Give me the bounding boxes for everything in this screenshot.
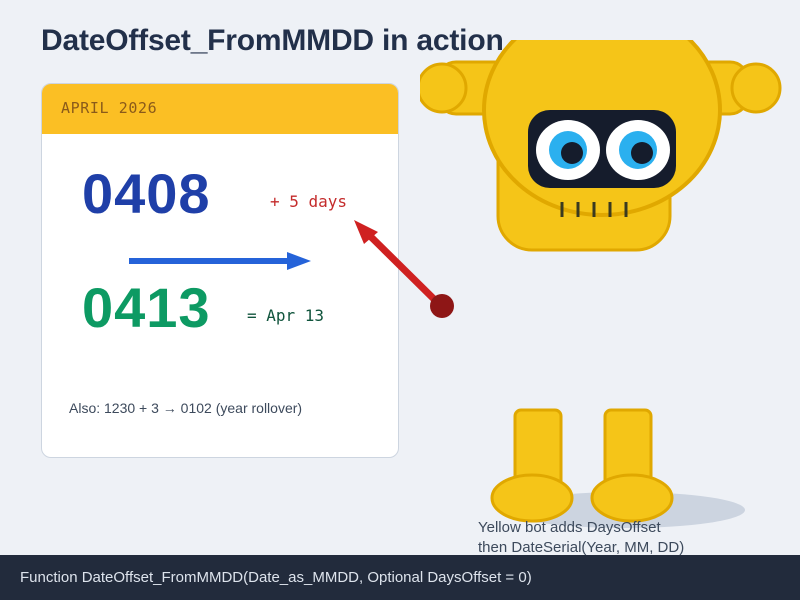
hand-left [420,64,466,112]
footer-bar: Function DateOffset_FromMMDD(Date_as_MMD… [0,555,800,600]
function-signature: Function DateOffset_FromMMDD(Date_as_MMD… [20,569,532,586]
calendar-month-label: APRIL 2026 [61,99,157,117]
robot-foot-left [492,475,572,521]
bot-caption-line-1: Yellow bot adds DaysOffset [478,518,778,538]
calendar-card: APRIL 2026 0408 + 5 days 0413 = Apr 13 A… [41,83,399,458]
yellow-robot-illustration [420,40,800,530]
transform-arrow-icon [129,250,311,272]
days-offset-label: + 5 days [270,192,347,211]
mmdd-result-value: 0413 [82,280,211,336]
bot-caption: Yellow bot adds DaysOffset then DateSeri… [478,518,778,558]
robot-foot-right [592,475,672,521]
result-readable-label: = Apr 13 [247,306,324,325]
eye-left-pupil [561,142,583,164]
mmdd-input-value: 0408 [82,166,211,222]
eye-right-pupil [631,142,653,164]
screenshot-root: DateOffset_FromMMDD in action APRIL 2026… [0,0,800,600]
hand-right [732,64,780,112]
rollover-note: Also: 1230 + 3 → 0102 (year rollover) [69,400,302,416]
calendar-card-header: APRIL 2026 [42,84,398,134]
